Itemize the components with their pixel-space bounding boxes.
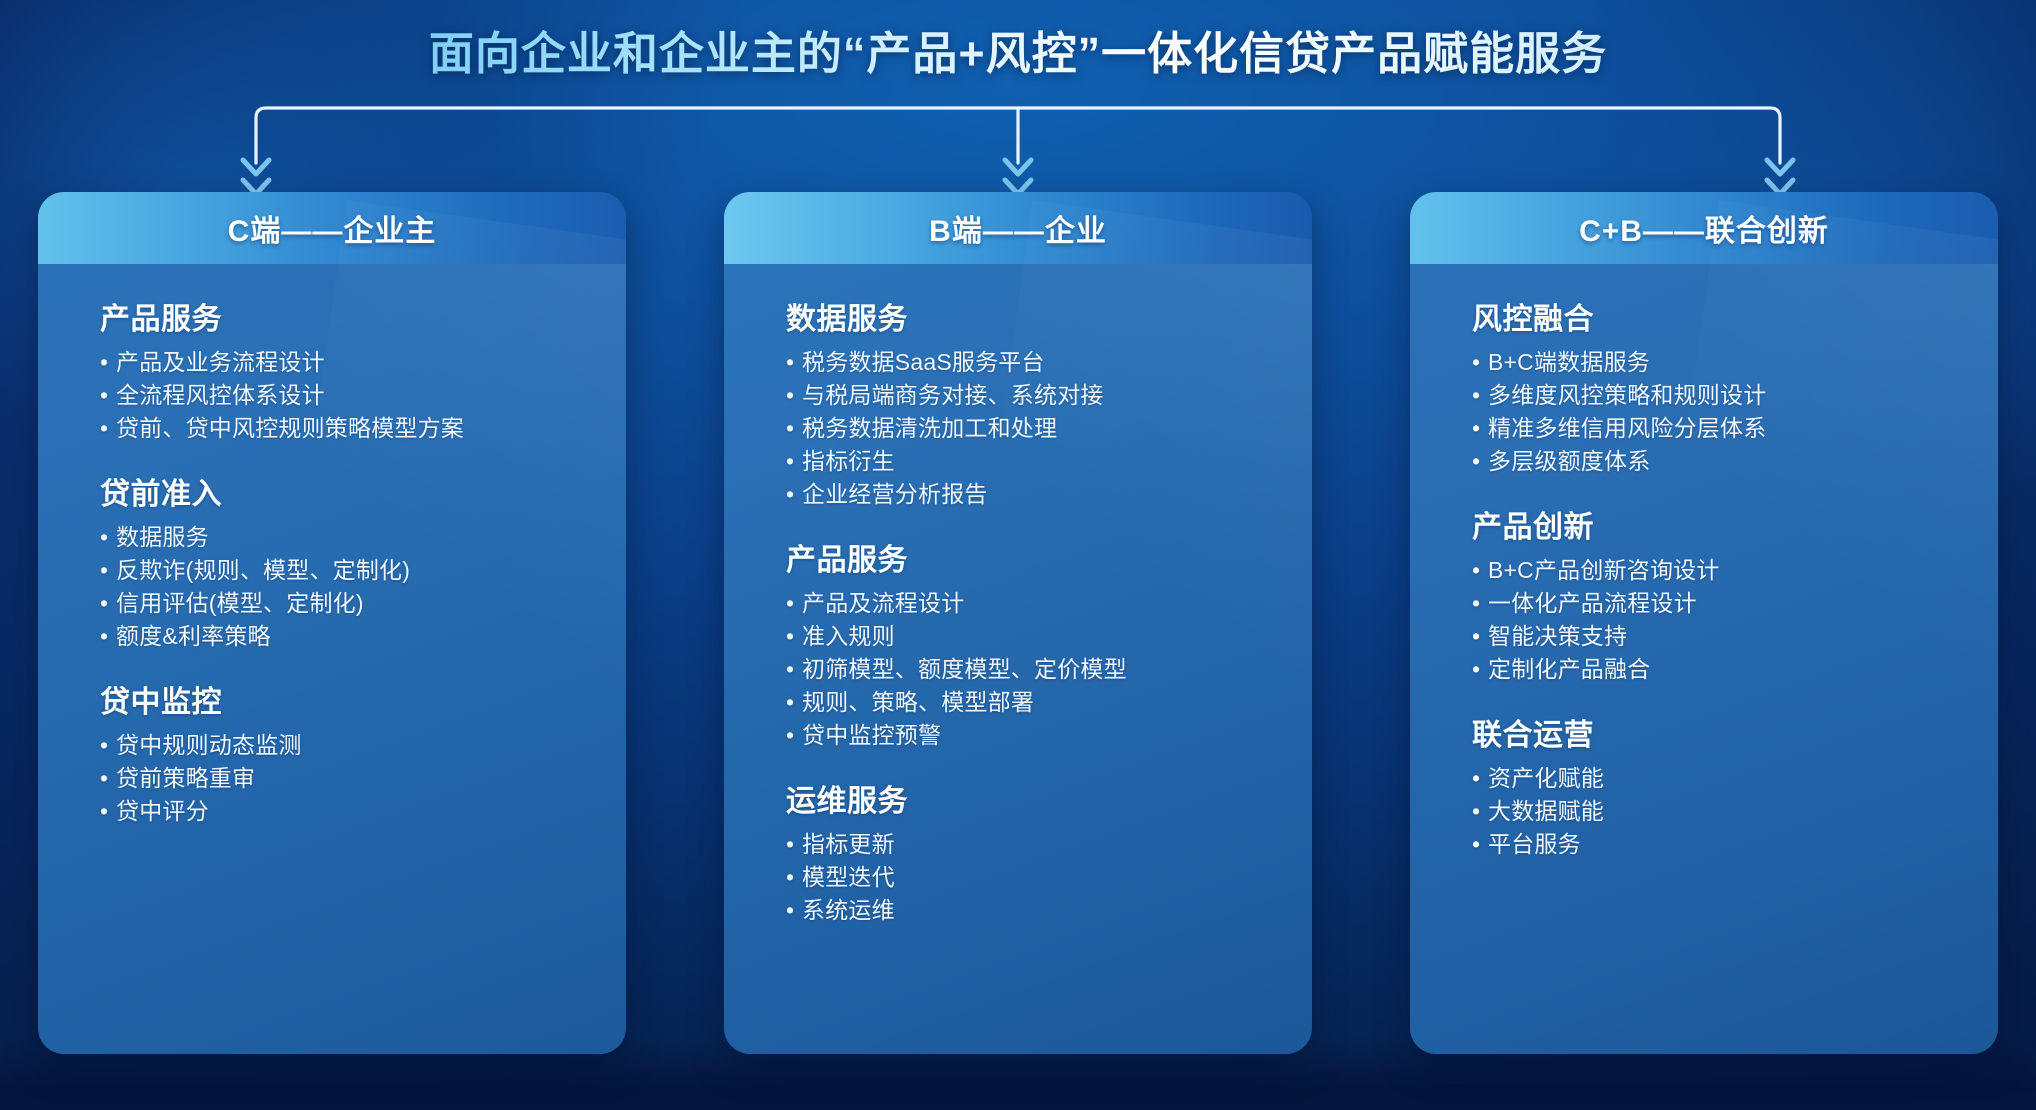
- card-c-plus-b-header: C+B——联合创新: [1410, 192, 1998, 264]
- card-c-end-header: C端——企业主: [38, 192, 626, 264]
- card-c-plus-b-body: 风控融合 B+C端数据服务 多维度风控策略和规则设计 精准多维信用风险分层体系 …: [1410, 264, 1998, 1054]
- list-item: 一体化产品流程设计: [1472, 589, 1998, 618]
- list-item: 精准多维信用风险分层体系: [1472, 414, 1998, 443]
- list-item: 贷前策略重审: [100, 764, 626, 793]
- card-c-end-title: C端——企业主: [228, 206, 437, 250]
- section-product-service: 产品服务 产品及业务流程设计 全流程风控体系设计 贷前、贷中风控规则策略模型方案: [38, 294, 626, 443]
- section-title: 风控融合: [1472, 294, 1998, 338]
- section-title: 运维服务: [786, 776, 1312, 820]
- list-item: 智能决策支持: [1472, 622, 1998, 651]
- list-item: 企业经营分析报告: [786, 480, 1312, 509]
- section-ops-service: 运维服务 指标更新 模型迭代 系统运维: [724, 776, 1312, 925]
- section-in-loan-monitoring: 贷中监控 贷中规则动态监测 贷前策略重审 贷中评分: [38, 677, 626, 826]
- section-bullets: 指标更新 模型迭代 系统运维: [786, 830, 1312, 925]
- card-c-plus-b-title: C+B——联合创新: [1579, 206, 1829, 250]
- card-b-end-body: 数据服务 税务数据SaaS服务平台 与税局端商务对接、系统对接 税务数据清洗加工…: [724, 264, 1312, 1054]
- page-title-container: 面向企业和企业主的“产品+风控”一体化信贷产品赋能服务: [0, 26, 2036, 82]
- list-item: 信用评估(模型、定制化): [100, 589, 626, 618]
- card-b-end-header: B端——企业: [724, 192, 1312, 264]
- list-item: 定制化产品融合: [1472, 655, 1998, 684]
- list-item: 与税局端商务对接、系统对接: [786, 381, 1312, 410]
- list-item: 指标更新: [786, 830, 1312, 859]
- section-bullets: 产品及流程设计 准入规则 初筛模型、额度模型、定价模型 规则、策略、模型部署 贷…: [786, 589, 1312, 750]
- cards-container: C端——企业主 产品服务 产品及业务流程设计 全流程风控体系设计 贷前、贷中风控…: [0, 192, 2036, 1062]
- section-bullets: 数据服务 反欺诈(规则、模型、定制化) 信用评估(模型、定制化) 额度&利率策略: [100, 523, 626, 651]
- section-bullets: 产品及业务流程设计 全流程风控体系设计 贷前、贷中风控规则策略模型方案: [100, 348, 626, 443]
- list-item: 产品及流程设计: [786, 589, 1312, 618]
- section-title: 联合运营: [1472, 710, 1998, 754]
- list-item: 指标衍生: [786, 447, 1312, 476]
- list-item: 模型迭代: [786, 863, 1312, 892]
- section-product-innovation: 产品创新 B+C产品创新咨询设计 一体化产品流程设计 智能决策支持 定制化产品融…: [1410, 502, 1998, 684]
- list-item: 反欺诈(规则、模型、定制化): [100, 556, 626, 585]
- list-item: 平台服务: [1472, 830, 1998, 859]
- list-item: 贷前、贷中风控规则策略模型方案: [100, 414, 626, 443]
- section-title: 贷前准入: [100, 469, 626, 513]
- section-pre-loan-access: 贷前准入 数据服务 反欺诈(规则、模型、定制化) 信用评估(模型、定制化) 额度…: [38, 469, 626, 651]
- list-item: 初筛模型、额度模型、定价模型: [786, 655, 1312, 684]
- card-b-end[interactable]: B端——企业 数据服务 税务数据SaaS服务平台 与税局端商务对接、系统对接 税…: [724, 192, 1312, 1054]
- list-item: 贷中规则动态监测: [100, 731, 626, 760]
- section-bullets: 贷中规则动态监测 贷前策略重审 贷中评分: [100, 731, 626, 826]
- section-risk-fusion: 风控融合 B+C端数据服务 多维度风控策略和规则设计 精准多维信用风险分层体系 …: [1410, 294, 1998, 476]
- section-joint-operation: 联合运营 资产化赋能 大数据赋能 平台服务: [1410, 710, 1998, 859]
- list-item: 产品及业务流程设计: [100, 348, 626, 377]
- list-item: B+C产品创新咨询设计: [1472, 556, 1998, 585]
- section-title: 贷中监控: [100, 677, 626, 721]
- list-item: 多层级额度体系: [1472, 447, 1998, 476]
- list-item: 税务数据SaaS服务平台: [786, 348, 1312, 377]
- card-c-end-body: 产品服务 产品及业务流程设计 全流程风控体系设计 贷前、贷中风控规则策略模型方案…: [38, 264, 626, 1054]
- list-item: 规则、策略、模型部署: [786, 688, 1312, 717]
- section-bullets: 税务数据SaaS服务平台 与税局端商务对接、系统对接 税务数据清洗加工和处理 指…: [786, 348, 1312, 509]
- card-c-plus-b[interactable]: C+B——联合创新 风控融合 B+C端数据服务 多维度风控策略和规则设计 精准多…: [1410, 192, 1998, 1054]
- section-title: 产品服务: [786, 535, 1312, 579]
- card-b-end-title: B端——企业: [929, 206, 1107, 250]
- list-item: 资产化赋能: [1472, 764, 1998, 793]
- section-title: 数据服务: [786, 294, 1312, 338]
- page-title: 面向企业和企业主的“产品+风控”一体化信贷产品赋能服务: [429, 26, 1607, 82]
- list-item: 全流程风控体系设计: [100, 381, 626, 410]
- section-bullets: 资产化赋能 大数据赋能 平台服务: [1472, 764, 1998, 859]
- list-item: 额度&利率策略: [100, 622, 626, 651]
- section-product-service: 产品服务 产品及流程设计 准入规则 初筛模型、额度模型、定价模型 规则、策略、模…: [724, 535, 1312, 750]
- list-item: 贷中评分: [100, 797, 626, 826]
- list-item: 准入规则: [786, 622, 1312, 651]
- section-data-service: 数据服务 税务数据SaaS服务平台 与税局端商务对接、系统对接 税务数据清洗加工…: [724, 294, 1312, 509]
- card-c-end[interactable]: C端——企业主 产品服务 产品及业务流程设计 全流程风控体系设计 贷前、贷中风控…: [38, 192, 626, 1054]
- section-title: 产品服务: [100, 294, 626, 338]
- list-item: 数据服务: [100, 523, 626, 552]
- list-item: 贷中监控预警: [786, 721, 1312, 750]
- list-item: 大数据赋能: [1472, 797, 1998, 826]
- list-item: 税务数据清洗加工和处理: [786, 414, 1312, 443]
- section-bullets: B+C端数据服务 多维度风控策略和规则设计 精准多维信用风险分层体系 多层级额度…: [1472, 348, 1998, 476]
- section-bullets: B+C产品创新咨询设计 一体化产品流程设计 智能决策支持 定制化产品融合: [1472, 556, 1998, 684]
- list-item: 系统运维: [786, 896, 1312, 925]
- section-title: 产品创新: [1472, 502, 1998, 546]
- list-item: B+C端数据服务: [1472, 348, 1998, 377]
- list-item: 多维度风控策略和规则设计: [1472, 381, 1998, 410]
